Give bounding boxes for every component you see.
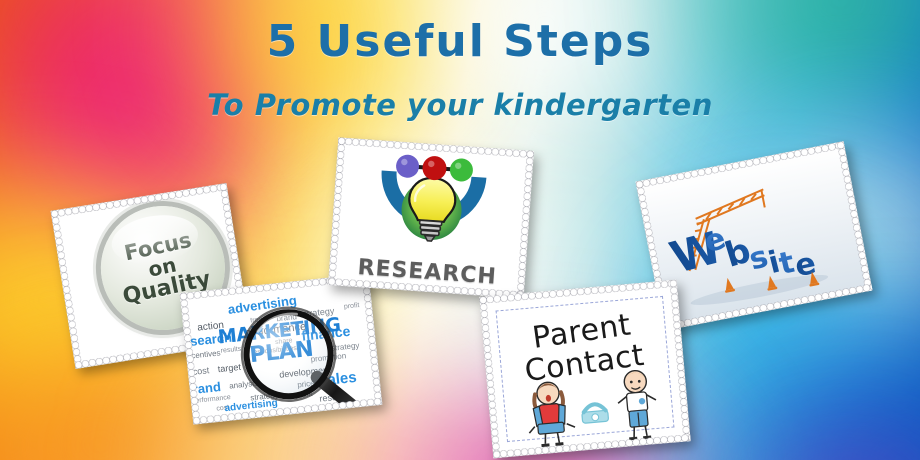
children-illustration <box>486 286 684 452</box>
research-logo-icon <box>353 146 510 268</box>
research-logo-wrap: RESEARCH <box>334 144 527 293</box>
card-marketing-plan[interactable]: advertisingactiontrendsbrandstrategyprof… <box>180 273 383 424</box>
card-marketing-plan-inner: advertisingactiontrendsbrandstrategyprof… <box>186 280 376 418</box>
card-parent-contact[interactable]: Parent Contact <box>479 280 690 459</box>
page-subtitle: To Promote your kindergarten <box>0 88 920 122</box>
page-title: 5 Useful Steps <box>0 16 920 67</box>
girl-figure <box>525 380 576 448</box>
card-parent-contact-inner: Parent Contact <box>486 286 684 452</box>
telephone-icon <box>581 403 608 423</box>
card-research[interactable]: RESEARCH <box>328 137 534 298</box>
magnifying-glass-icon <box>186 280 376 418</box>
boy-figure <box>615 369 659 441</box>
card-research-inner: RESEARCH <box>334 144 527 293</box>
poster-canvas: 5 Useful Steps To Promote your kindergar… <box>0 0 920 460</box>
